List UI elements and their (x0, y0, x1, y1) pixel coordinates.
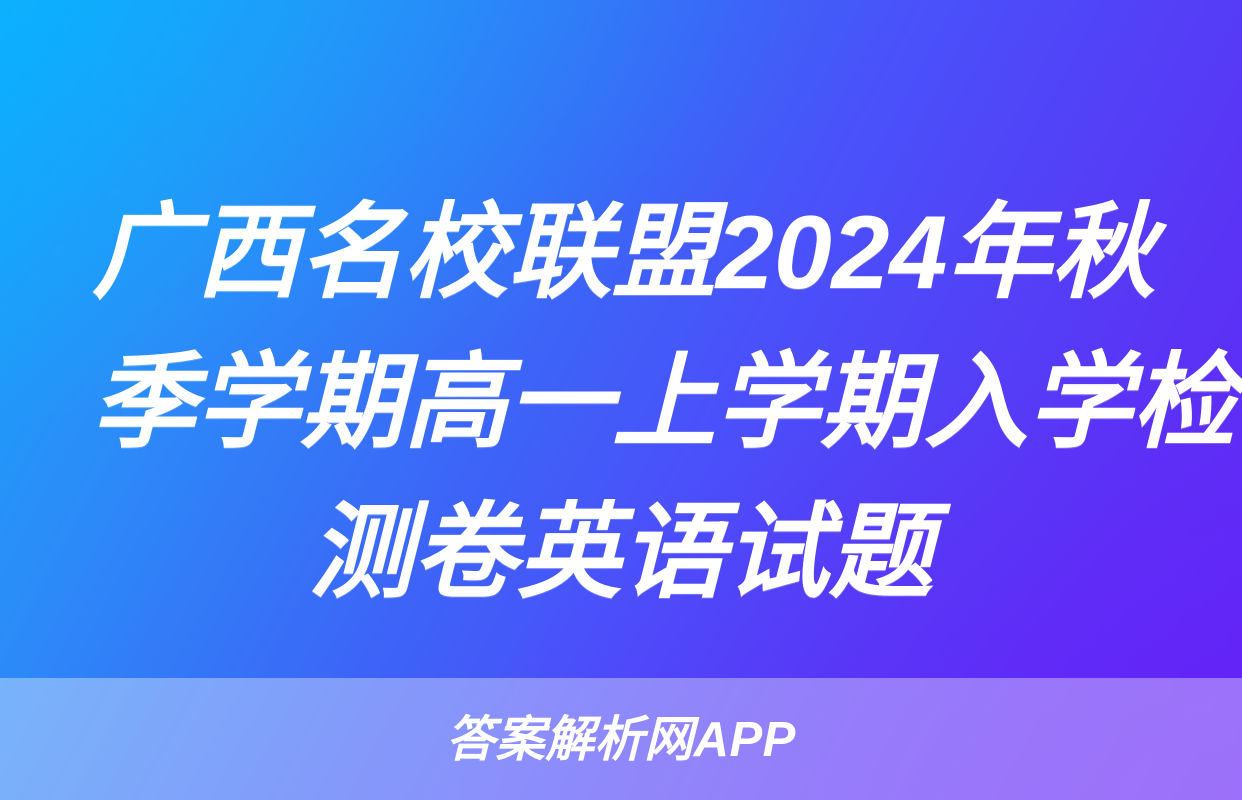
footer-brand-label: 答案解析网APP (446, 716, 796, 765)
footer-banner: 答案解析网APP (0, 678, 1242, 800)
title-line-2: 季学期高一上学期入学检 (92, 328, 1150, 478)
title-line-3: 测卷英语试题 (92, 478, 1150, 628)
title-line-1: 广西名校联盟2024年秋 (92, 178, 1150, 328)
exam-cover-card: 广西名校联盟2024年秋 季学期高一上学期入学检 测卷英语试题 答案解析网APP (0, 0, 1242, 800)
page-title: 广西名校联盟2024年秋 季学期高一上学期入学检 测卷英语试题 (0, 178, 1242, 628)
